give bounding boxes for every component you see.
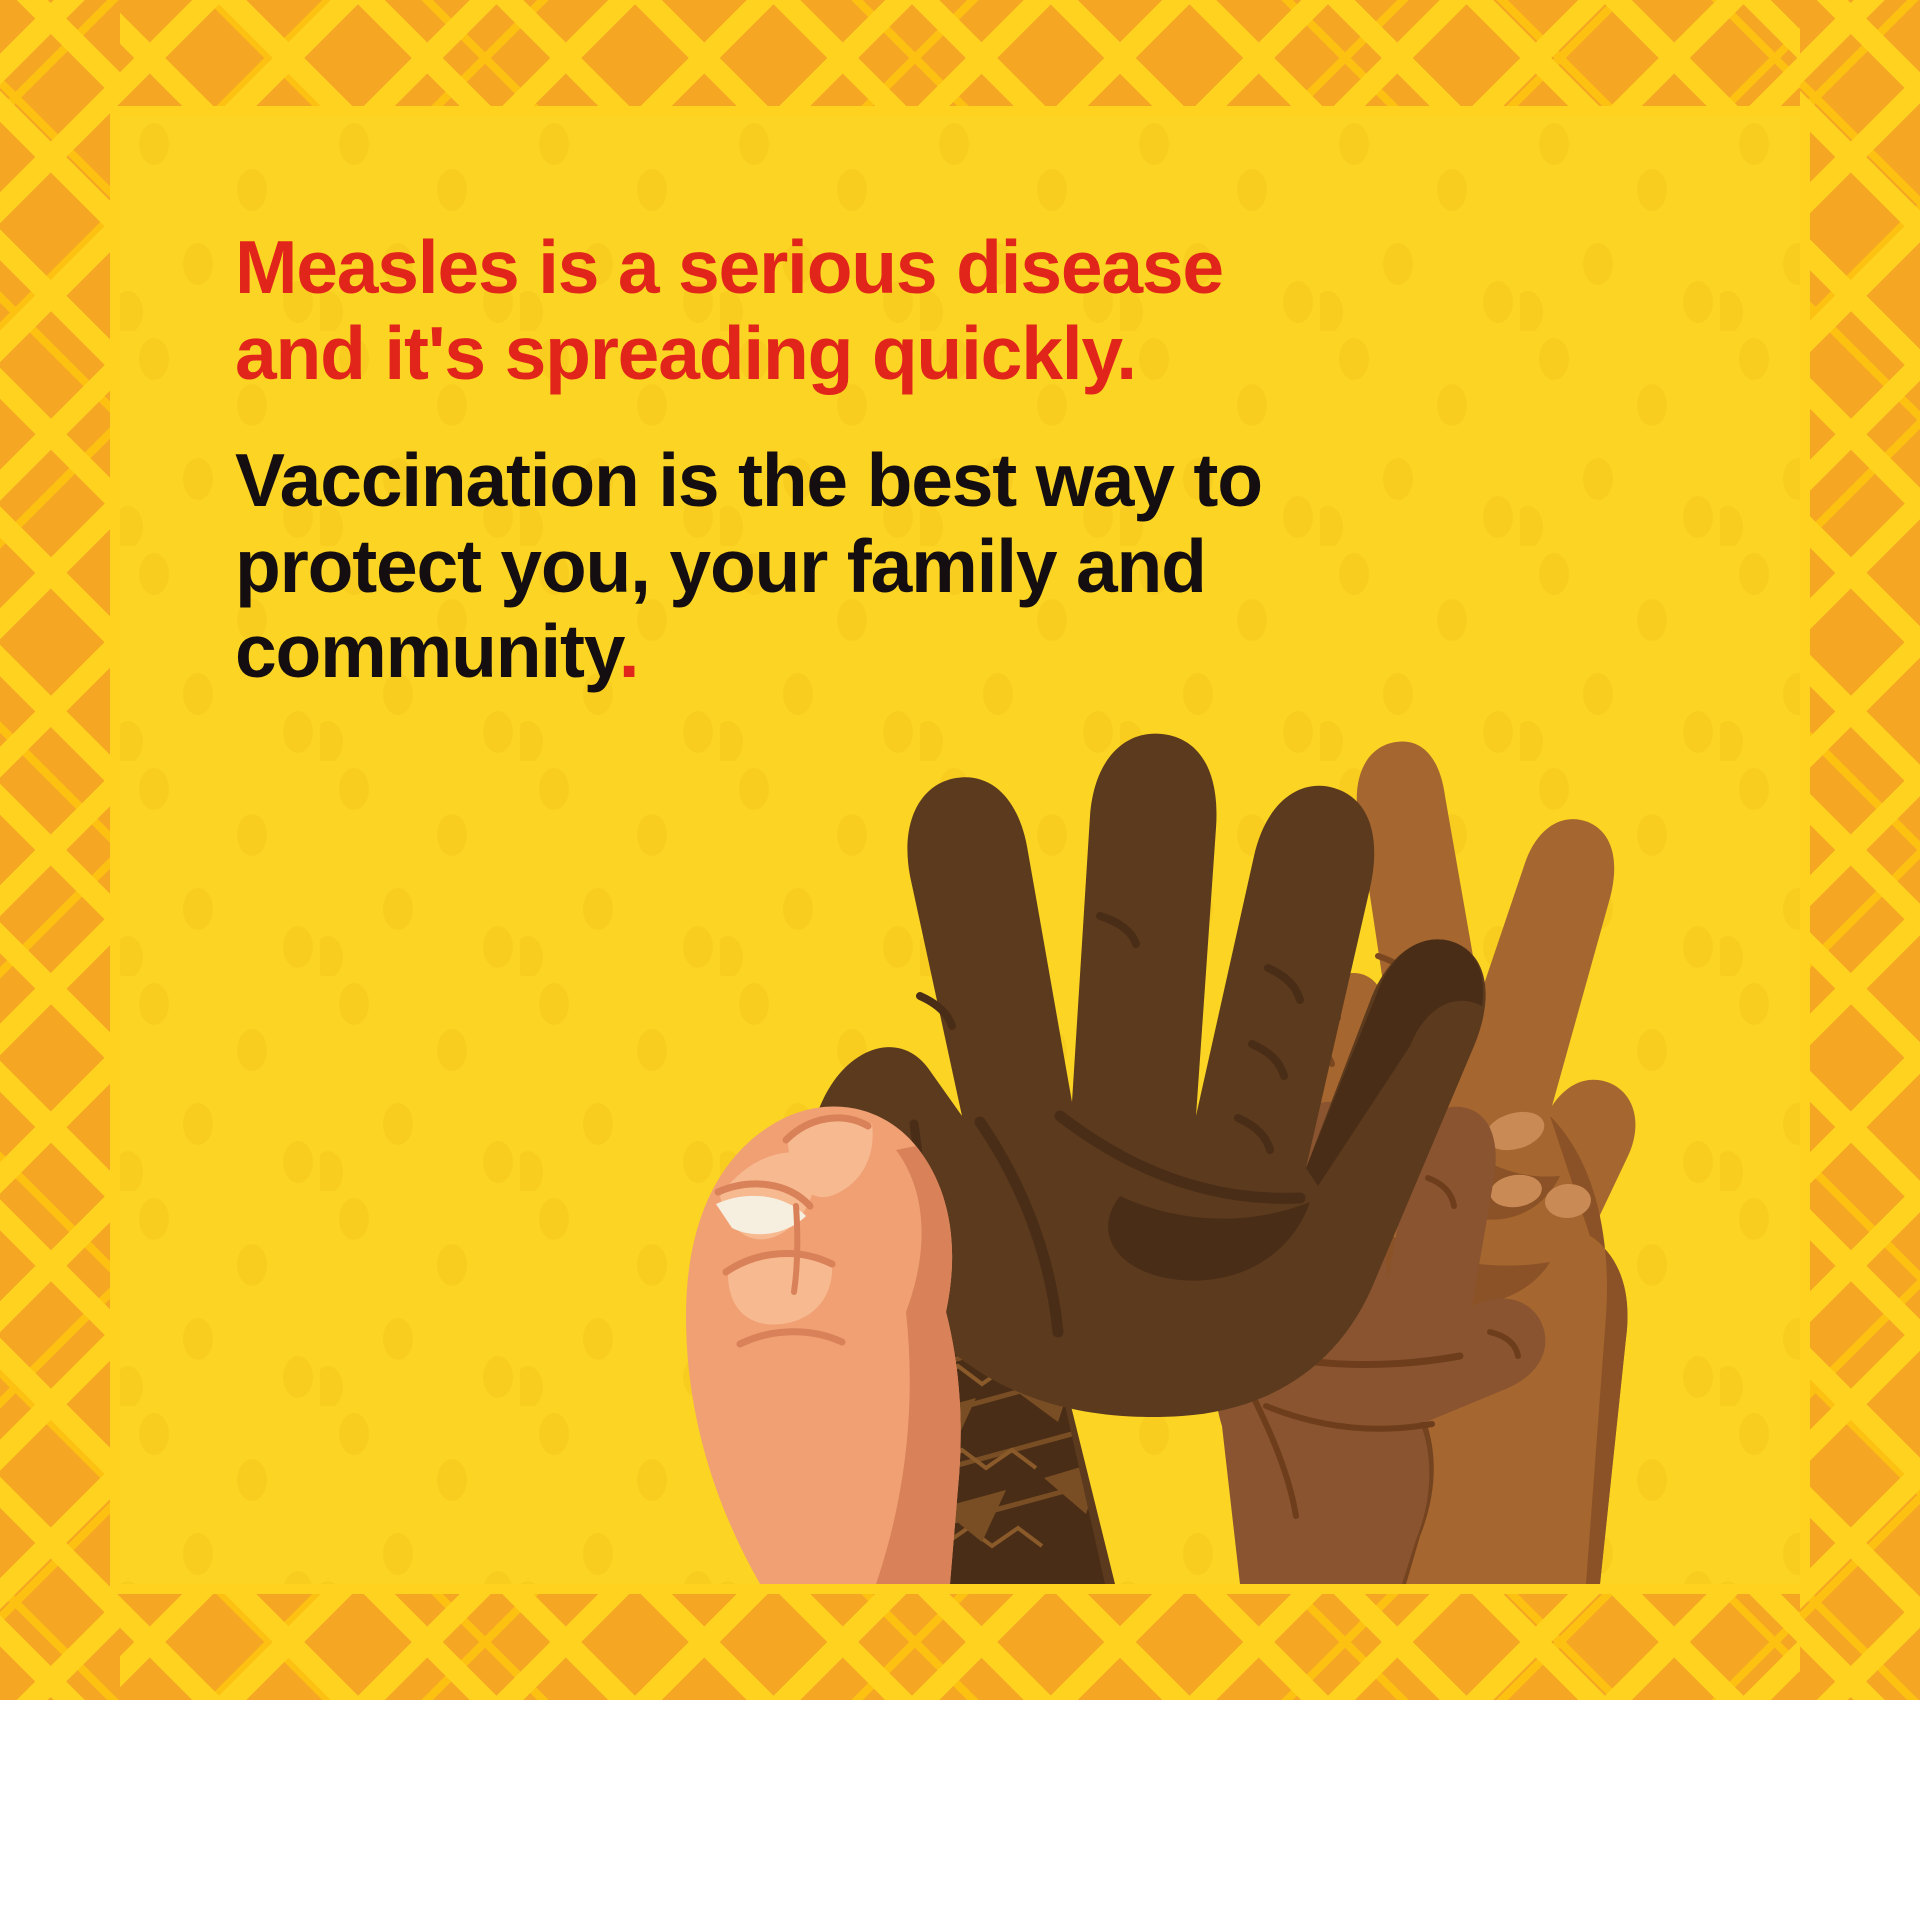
headline-red: Measles is a serious disease and it's sp… [235, 225, 1295, 396]
footer-logo-bar: World Health Organization Representative… [0, 1700, 1920, 1920]
headline-black-text: Vaccination is the best way to protect y… [235, 438, 1262, 693]
border-band-right [1800, 0, 1920, 1700]
headline-red-period: . [619, 609, 639, 693]
border-band-bottom [0, 1584, 1920, 1700]
panel-keyline-top [110, 106, 1810, 116]
border-band-left [0, 0, 120, 1700]
headline-black: Vaccination is the best way to protect y… [235, 438, 1295, 695]
border-pattern [0, 0, 120, 1700]
panel-keyline-right [1800, 106, 1810, 1594]
border-pattern [0, 1584, 1920, 1700]
panel-keyline-left [110, 106, 120, 1594]
headline-block: Measles is a serious disease and it's sp… [235, 225, 1295, 695]
border-band-top [0, 0, 1920, 116]
fist-hand [686, 1107, 961, 1584]
content-panel: Measles is a serious disease and it's sp… [120, 116, 1800, 1584]
poster: Measles is a serious disease and it's sp… [0, 0, 1920, 1920]
artwork-region: Measles is a serious disease and it's sp… [0, 0, 1920, 1700]
border-pattern [0, 0, 1920, 116]
border-pattern [1800, 0, 1920, 1700]
panel-keyline-bottom [110, 1584, 1810, 1594]
